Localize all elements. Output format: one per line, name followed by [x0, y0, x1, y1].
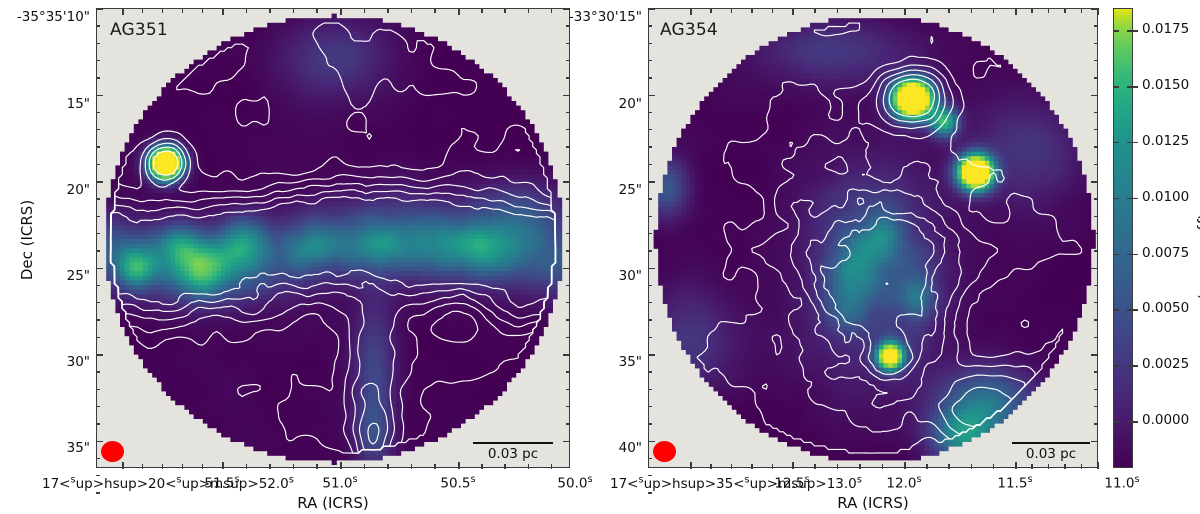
ag351-beam-ellipse — [101, 441, 124, 462]
ag354-xtick-topminor-0-3 — [751, 8, 752, 13]
ag351-ytick-major-3 — [96, 268, 103, 270]
ag354-ytick-minor-4-2 — [648, 389, 652, 390]
ag354-xtick-topminor-1-3 — [859, 8, 860, 13]
ag354-ytick-major-1 — [648, 95, 655, 97]
ag354-ytick-minor-1-2 — [648, 129, 652, 130]
ag351-xtick-topminor-2-1 — [364, 8, 365, 13]
ag351-ytick-4: 30" — [0, 354, 90, 370]
panel-ag351-title: AG351 — [110, 20, 168, 40]
ag354-ytick-rightminor-1-3 — [1094, 146, 1098, 147]
ag351-xtick-top-3 — [458, 8, 460, 15]
ag351-ytick-2: 20" — [0, 182, 90, 198]
ag351-xtick-minor-1-1 — [246, 464, 247, 469]
ag354-ytick-rightminor-3-1 — [1094, 285, 1098, 286]
ag351-xtick-topminor-1-3 — [293, 8, 294, 13]
ag351-xtick-minor-3-3 — [528, 464, 529, 469]
ag354-xaxis-label: RA (ICRS) — [793, 494, 953, 512]
colorbar-label-2: 0.0050 — [1142, 300, 1189, 316]
ag351-ytick-major-2 — [96, 181, 103, 183]
ag351-xtick-topminor-0-3 — [182, 8, 183, 13]
ag351-ytick-major-0 — [96, 8, 103, 10]
ag351-ytick-minor-4-2 — [96, 389, 100, 390]
colorbar-tick-in-2 — [1113, 309, 1119, 311]
ag351-ytick-rightminor-1-1 — [566, 112, 570, 113]
ag354-xtick-minor-0-3 — [751, 464, 752, 469]
ag351-xtick-minor-1-3 — [293, 464, 294, 469]
ag354-ytick-rightminor-2-3 — [1094, 233, 1098, 234]
ag354-xtick-topminor-2-3 — [971, 8, 972, 13]
ag351-xtick-topminor-1-2 — [269, 8, 270, 13]
ag354-ytick-minor-0-3 — [648, 60, 652, 61]
ag351-scalebar-label: 0.03 pc — [473, 446, 553, 462]
ag354-xtick-minor-3-3 — [1064, 464, 1065, 469]
ag351-xtick-minor-0-3 — [182, 464, 183, 469]
ag354-ytick-minor-1-1 — [648, 112, 652, 113]
ag354-xtick-major-3 — [1015, 462, 1017, 469]
ag351-ytick-minor-1-2 — [96, 129, 100, 130]
ag351-xtick-top-2 — [340, 8, 342, 15]
panel-ag351 — [96, 8, 570, 468]
ag354-ytick-minor-4-4 — [648, 423, 652, 424]
ag351-xtick-topminor-0-4 — [202, 8, 203, 13]
ag354-ytick-right-2 — [1091, 181, 1098, 183]
ag351-ytick-rightminor-2-2 — [566, 216, 570, 217]
ag354-ytick-major-5 — [648, 441, 655, 443]
colorbar-tick-in-5 — [1113, 142, 1119, 144]
ag354-xtick-major-1 — [792, 462, 794, 469]
ag351-ytick-minor-end-3 — [96, 492, 100, 493]
ag354-ytick-minor-end-2 — [648, 475, 652, 476]
ag351-xtick-minor-2-1 — [364, 464, 365, 469]
ag351-ytick-minor-3-2 — [96, 302, 100, 303]
ag351-ytick-minor-3-4 — [96, 337, 100, 338]
ag351-ytick-right-4 — [563, 354, 570, 356]
ag354-xtick-topminor-0-4 — [772, 8, 773, 13]
colorbar-tick-out-6 — [1133, 86, 1138, 88]
ag354-ytick-major-0 — [648, 8, 655, 10]
ag351-ytick-minor-3-1 — [96, 285, 100, 286]
ag351-ytick-rightminor-2-3 — [566, 233, 570, 234]
ag351-ytick-minor-1-4 — [96, 164, 100, 165]
ag354-xtick-minor-3-2 — [1048, 464, 1049, 469]
ag354-ytick-3: 30" — [542, 268, 642, 284]
ag354-ytick-rightminor-4-4 — [1094, 423, 1098, 424]
ag351-ytick-major-4 — [96, 354, 103, 356]
ag354-ytick-rightminor-1-2 — [1094, 129, 1098, 130]
ag351-ytick-minor-4-3 — [96, 406, 100, 407]
ag354-ytick-rightminor-3-2 — [1094, 302, 1098, 303]
ag351-ytick-rightminor-3-1 — [566, 285, 570, 286]
ag354-ytick-minor-4-1 — [648, 371, 652, 372]
ag354-ytick-rightminor-0-1 — [1094, 25, 1098, 26]
ag351-ytick-minor-2-3 — [96, 233, 100, 234]
ag351-ytick-3: 25" — [0, 268, 90, 284]
ag351-xtick-minor-2-2 — [387, 464, 388, 469]
ag351-xtick-minor-2-4 — [434, 464, 435, 469]
ag354-xtick-minor-2-4 — [993, 464, 994, 469]
ag354-xtick-top-2 — [904, 8, 906, 15]
colorbar-tick-in-7 — [1113, 30, 1119, 32]
figure-root: AG351 0.03 pc -35°35'10" 15" 20" 25" 30"… — [0, 0, 1200, 514]
ag354-ytick-5: 40" — [542, 440, 642, 456]
ag351-ytick-right-0 — [563, 8, 570, 10]
colorbar-label-7: 0.0175 — [1142, 21, 1189, 37]
ag354-xtick-topminor-1-4 — [882, 8, 883, 13]
ag351-ytick-rightminor-4-2 — [566, 389, 570, 390]
ag354-ytick-right-1 — [1091, 95, 1098, 97]
ag354-xtick-minor-1-4 — [882, 464, 883, 469]
ag354-xtick-major-4 — [1097, 462, 1099, 469]
ag354-ytick-minor-0-2 — [648, 43, 652, 44]
ag351-xtick-topminor-3-1 — [481, 8, 482, 13]
ag351-xtick-topminor-3-2 — [504, 8, 505, 13]
ag351-ytick-rightminor-0-3 — [566, 60, 570, 61]
ag351-ytick-rightminor-0-4 — [566, 77, 570, 78]
ag354-ytick-2: 25" — [542, 182, 642, 198]
ag354-xtick-topminor-3-3 — [1064, 8, 1065, 13]
ag351-ytick-major-5 — [96, 441, 103, 443]
ag351-xtick-major-2 — [340, 462, 342, 469]
ag354-xtick-minor-1-2 — [837, 464, 838, 469]
colorbar-tick-in-0 — [1113, 421, 1119, 423]
colorbar — [1113, 8, 1133, 468]
colorbar-label-6: 0.0150 — [1142, 77, 1189, 93]
ag351-yaxis-label: Dec (ICRS) — [18, 160, 36, 320]
colorbar-label-4: 0.0100 — [1142, 189, 1189, 205]
ag351-xtick-topminor-2-4 — [434, 8, 435, 13]
ag351-xtick-topminor-2-2 — [387, 8, 388, 13]
ag351-ytick-rightminor-1-4 — [566, 164, 570, 165]
ag354-ytick-minor-3-4 — [648, 337, 652, 338]
ag354-ytick-rightminor-2-2 — [1094, 216, 1098, 217]
ag351-xtick-minor-1-4 — [316, 464, 317, 469]
ag354-xtick-topminor-3-1 — [1031, 8, 1032, 13]
ag354-xtick-topminor-2-4 — [993, 8, 994, 13]
colorbar-tick-out-5 — [1133, 142, 1138, 144]
ag354-ytick-rightminor-0-4 — [1094, 77, 1098, 78]
ag354-xtick-minor-0-2 — [731, 464, 732, 469]
ag351-ytick-rightminor-3-3 — [566, 319, 570, 320]
ag354-ytick-rightminor-4-1 — [1094, 371, 1098, 372]
ag354-xtick-top-0 — [690, 8, 692, 15]
colorbar-label-0: 0.0000 — [1142, 412, 1189, 428]
ag351-xtick-topminor-2-3 — [411, 8, 412, 13]
ag351-ytick-right-2 — [563, 181, 570, 183]
ag351-ytick-rightminor-4-4 — [566, 423, 570, 424]
colorbar-tick-out-7 — [1133, 30, 1138, 32]
ag354-ytick-minor-end-1 — [648, 458, 652, 459]
panel-ag354-title: AG354 — [660, 20, 718, 40]
colorbar-tick-out-2 — [1133, 309, 1138, 311]
ag354-ytick-rightminor-3-3 — [1094, 319, 1098, 320]
ag354-xtick-topminor-1-1 — [814, 8, 815, 13]
ag354-scalebar-label: 0.03 pc — [1012, 446, 1090, 462]
ag351-ytick-right-1 — [563, 95, 570, 97]
ag351-xtick-topminor-0-2 — [162, 8, 163, 13]
ag354-ytick-rightminor-0-2 — [1094, 43, 1098, 44]
ag354-ytick-minor-1-3 — [648, 146, 652, 147]
ag354-xtick-4: 11.0s — [1042, 474, 1200, 492]
ag354-ytick-minor-4-3 — [648, 406, 652, 407]
ag354-ytick-minor-0-1 — [648, 25, 652, 26]
ag351-ytick-rightminor-0-1 — [566, 25, 570, 26]
panel-ag354 — [648, 8, 1098, 468]
ag354-ytick-rightminor-4-2 — [1094, 389, 1098, 390]
ag354-ytick-major-2 — [648, 181, 655, 183]
ag351-ytick-minor-2-4 — [96, 250, 100, 251]
ag351-ytick-minor-2-1 — [96, 198, 100, 199]
ag354-xtick-topminor-0-1 — [710, 8, 711, 13]
ag351-xaxis-label: RA (ICRS) — [253, 494, 413, 512]
ag354-xtick-topminor-1-2 — [837, 8, 838, 13]
ag354-ytick-right-0 — [1091, 8, 1098, 10]
ag351-ytick-minor-2-2 — [96, 216, 100, 217]
ag354-xtick-minor-2-3 — [971, 464, 972, 469]
colorbar-tick-in-6 — [1113, 86, 1119, 88]
ag351-xtick-minor-1-2 — [269, 464, 270, 469]
ag354-ytick-minor-2-2 — [648, 216, 652, 217]
ag351-ytick-minor-1-3 — [96, 146, 100, 147]
ag354-ytick-rightminor-3-4 — [1094, 337, 1098, 338]
ag351-scalebar-line — [473, 442, 553, 444]
colorbar-label-1: 0.0025 — [1142, 356, 1189, 372]
ag351-xtick-minor-0-2 — [162, 464, 163, 469]
ag354-xtick-minor-0-4 — [772, 464, 773, 469]
ag354-xtick-major-2 — [904, 462, 906, 469]
ag351-xtick-topminor-1-1 — [246, 8, 247, 13]
ag351-xtick-topminor-0-1 — [142, 8, 143, 13]
ag354-ytick-minor-3-1 — [648, 285, 652, 286]
ag354-xtick-minor-2-1 — [926, 464, 927, 469]
ag354-beam-ellipse — [653, 441, 676, 462]
ag351-ytick-minor-3-3 — [96, 319, 100, 320]
ag351-ytick-0: -35°35'10" — [0, 9, 90, 25]
ag351-ytick-rightminor-3-2 — [566, 302, 570, 303]
ag354-ytick-right-3 — [1091, 268, 1098, 270]
ag354-xtick-top-3 — [1015, 8, 1017, 15]
colorbar-tick-in-1 — [1113, 365, 1119, 367]
ag351-xtick-topminor-3-4 — [551, 8, 552, 13]
ag354-xtick-top-1 — [792, 8, 794, 15]
ag351-xtick-minor-0-1 — [142, 464, 143, 469]
colorbar-label-3: 0.0075 — [1142, 245, 1189, 261]
ag354-ytick-minor-3-2 — [648, 302, 652, 303]
ag351-ytick-minor-1-1 — [96, 112, 100, 113]
ag354-xtick-topminor-3-4 — [1081, 8, 1082, 13]
ag351-xtick-minor-2-3 — [411, 464, 412, 469]
ag354-ytick-right-4 — [1091, 354, 1098, 356]
ag351-ytick-right-3 — [563, 268, 570, 270]
ag354-ytick-4: 35" — [542, 354, 642, 370]
ag351-ytick-rightminor-4-3 — [566, 406, 570, 407]
ag351-ytick-rightminor-4-1 — [566, 371, 570, 372]
ag354-ytick-minor-0-4 — [648, 77, 652, 78]
ag354-xtick-topminor-0-2 — [731, 8, 732, 13]
ag351-ytick-1: 15" — [0, 96, 90, 112]
ag351-ytick-minor-end-2 — [96, 475, 100, 476]
ag354-xtick-topminor-2-2 — [948, 8, 949, 13]
ag351-ytick-minor-4-1 — [96, 371, 100, 372]
ag354-ytick-major-3 — [648, 268, 655, 270]
ag351-ytick-minor-0-1 — [96, 25, 100, 26]
ag351-ytick-minor-4-4 — [96, 423, 100, 424]
ag351-xtick-topminor-3-3 — [528, 8, 529, 13]
colorbar-tick-out-4 — [1133, 198, 1138, 200]
ag351-ytick-rightminor-3-4 — [566, 337, 570, 338]
ag351-ytick-rightminor-1-3 — [566, 146, 570, 147]
colorbar-tick-in-3 — [1113, 254, 1119, 256]
ag351-ytick-5: 35" — [0, 440, 90, 456]
ag354-ytick-1: 20" — [542, 96, 642, 112]
ag351-ytick-minor-0-4 — [96, 77, 100, 78]
ag354-ytick-minor-2-3 — [648, 233, 652, 234]
ag351-ytick-minor-0-3 — [96, 60, 100, 61]
ag354-ytick-rightminor-4-3 — [1094, 406, 1098, 407]
ag351-ytick-minor-0-2 — [96, 43, 100, 44]
colorbar-tick-in-4 — [1113, 198, 1119, 200]
colorbar-tick-out-3 — [1133, 254, 1138, 256]
ag351-ytick-rightminor-1-2 — [566, 129, 570, 130]
ag354-ytick-minor-2-1 — [648, 198, 652, 199]
ag354-ytick-minor-3-3 — [648, 319, 652, 320]
ag351-xtick-minor-3-1 — [481, 464, 482, 469]
ag351-ytick-rightminor-2-1 — [566, 198, 570, 199]
ag354-xtick-minor-0-1 — [710, 464, 711, 469]
ag351-xtick-minor-3-2 — [504, 464, 505, 469]
ag351-ytick-rightminor-2-4 — [566, 250, 570, 251]
ag354-xtick-minor-3-1 — [1031, 464, 1032, 469]
ag354-ytick-0: -33°30'15" — [542, 9, 642, 25]
ag351-xtick-top-0 — [122, 8, 124, 15]
ag354-ytick-rightminor-0-3 — [1094, 60, 1098, 61]
ag354-xtick-minor-2-2 — [948, 464, 949, 469]
colorbar-tick-out-0 — [1133, 421, 1138, 423]
ag354-xtick-minor-1-3 — [859, 464, 860, 469]
ag354-ytick-rightminor-1-1 — [1094, 112, 1098, 113]
colorbar-label-5: 0.0125 — [1142, 133, 1189, 149]
ag351-ytick-right-5 — [563, 441, 570, 443]
ag351-xtick-major-1 — [222, 462, 224, 469]
colorbar-title: Flux (Jy beam⁻¹) — [1196, 139, 1200, 339]
ag354-xtick-minor-1-1 — [814, 464, 815, 469]
ag354-ytick-minor-1-4 — [648, 164, 652, 165]
ag354-xtick-major-0 — [690, 462, 692, 469]
colorbar-tick-out-1 — [1133, 365, 1138, 367]
ag351-ytick-major-1 — [96, 95, 103, 97]
ag354-ytick-minor-end-3 — [648, 492, 652, 493]
ag351-ytick-minor-end-1 — [96, 458, 100, 459]
ag351-xtick-topminor-1-4 — [316, 8, 317, 13]
ag354-xtick-topminor-3-2 — [1048, 8, 1049, 13]
ag354-xtick-minor-3-4 — [1081, 464, 1082, 469]
ag354-ytick-rightminor-2-4 — [1094, 250, 1098, 251]
ag354-scalebar-line — [1012, 442, 1090, 444]
ag351-map-image — [97, 9, 569, 467]
ag354-ytick-rightminor-1-4 — [1094, 164, 1098, 165]
ag354-xtick-topminor-2-1 — [926, 8, 927, 13]
ag354-ytick-right-5 — [1091, 441, 1098, 443]
ag351-xtick-minor-3-4 — [551, 464, 552, 469]
ag354-ytick-rightminor-2-1 — [1094, 198, 1098, 199]
ag351-xtick-major-0 — [122, 462, 124, 469]
ag354-ytick-minor-2-4 — [648, 250, 652, 251]
ag354-ytick-major-4 — [648, 354, 655, 356]
ag351-xtick-major-3 — [458, 462, 460, 469]
ag351-xtick-minor-0-4 — [202, 464, 203, 469]
ag351-ytick-rightminor-0-2 — [566, 43, 570, 44]
ag351-xtick-top-1 — [222, 8, 224, 15]
ag354-map-image — [649, 9, 1097, 467]
